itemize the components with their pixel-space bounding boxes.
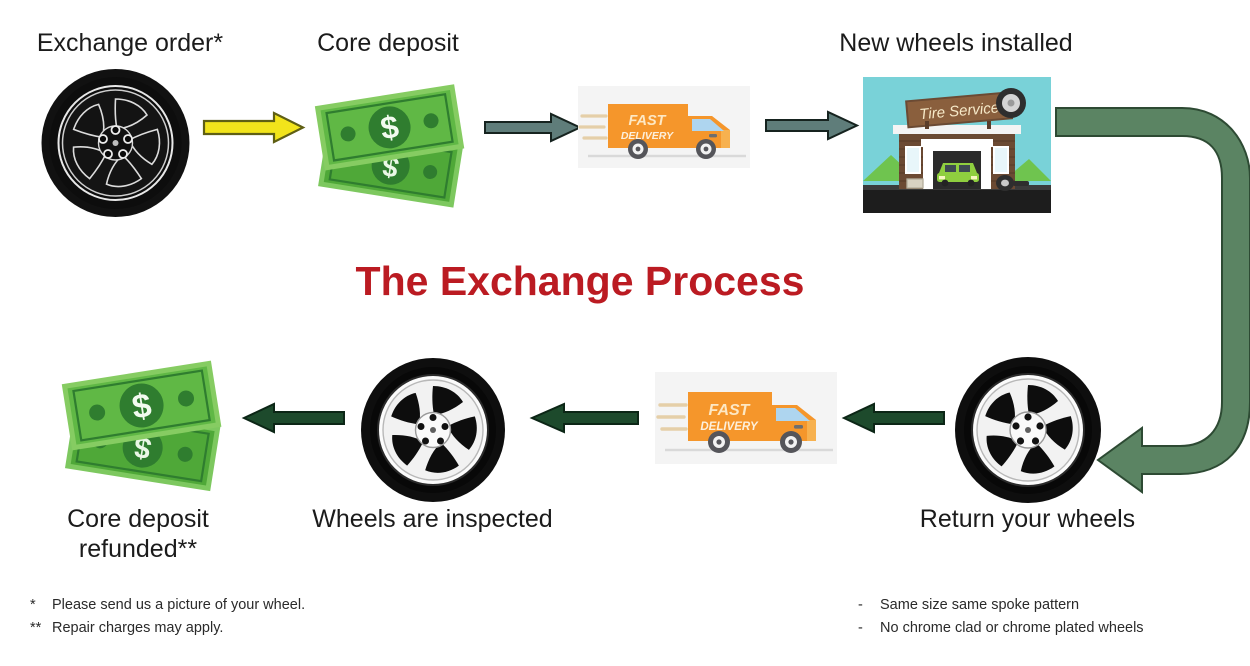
note-left-2-mark: ** [30, 617, 52, 640]
notes-left: *Please send us a picture of your wheel.… [30, 594, 450, 640]
arrow-dark-green-left-2 [528, 402, 640, 434]
note-left-1: *Please send us a picture of your wheel. [30, 594, 450, 617]
wheel-dark-icon [38, 68, 193, 218]
refund-label-line1: Core deposit [67, 505, 209, 533]
arrow-yellow-right [202, 110, 307, 145]
wheel-silver-icon-inspected [358, 356, 508, 504]
note-left-1-mark: * [30, 594, 52, 617]
refund-label-line2: refunded** [79, 535, 197, 563]
step-label-wheels-inspected: Wheels are inspected [300, 504, 565, 534]
note-right-1: -Same size same spoke pattern [858, 594, 1248, 617]
note-right-2-mark: - [858, 617, 880, 640]
wheel-silver-icon-return [952, 355, 1104, 505]
note-left-1-text: Please send us a picture of your wheel. [52, 597, 305, 613]
arrow-dark-green-left-3 [240, 402, 346, 434]
truck-text-fast-top: FAST [628, 113, 666, 129]
note-right-1-text: Same size same spoke pattern [880, 597, 1079, 613]
notes-right: -Same size same spoke pattern -No chrome… [858, 594, 1248, 640]
step-label-new-wheels-installed: New wheels installed [800, 28, 1112, 58]
note-left-2: **Repair charges may apply. [30, 617, 450, 640]
step-label-return-your-wheels: Return your wheels [895, 504, 1160, 534]
exchange-process-diagram: Exchange order* [0, 0, 1250, 666]
tire-service-shop-image: Tire Service [863, 77, 1051, 213]
step-label-core-deposit-refunded: Core deposit refunded** [18, 504, 258, 564]
note-right-2: -No chrome clad or chrome plated wheels [858, 617, 1248, 640]
money-bills-icon-refund: $ $ [55, 350, 235, 490]
arrow-slate-right-top-2 [764, 108, 860, 143]
money-bills-icon: $ $ [310, 75, 475, 205]
arrow-slate-right-top-1 [483, 110, 583, 145]
step-label-core-deposit: Core deposit [283, 28, 493, 58]
truck-text-delivery-top: DELIVERY [621, 130, 674, 142]
truck-text-delivery-bottom: DELIVERY [700, 421, 759, 433]
step-label-exchange-order: Exchange order* [10, 28, 250, 58]
delivery-truck-image-bottom: FAST DELIVERY [655, 372, 837, 464]
note-right-1-mark: - [858, 594, 880, 617]
note-left-2-text: Repair charges may apply. [52, 620, 223, 636]
arrow-dark-green-left-1 [840, 402, 946, 434]
delivery-truck-image-top: FAST DELIVERY [578, 86, 750, 168]
truck-text-fast-bottom: FAST [709, 402, 751, 419]
note-right-2-text: No chrome clad or chrome plated wheels [880, 620, 1144, 636]
page-title: The Exchange Process [0, 258, 1160, 305]
